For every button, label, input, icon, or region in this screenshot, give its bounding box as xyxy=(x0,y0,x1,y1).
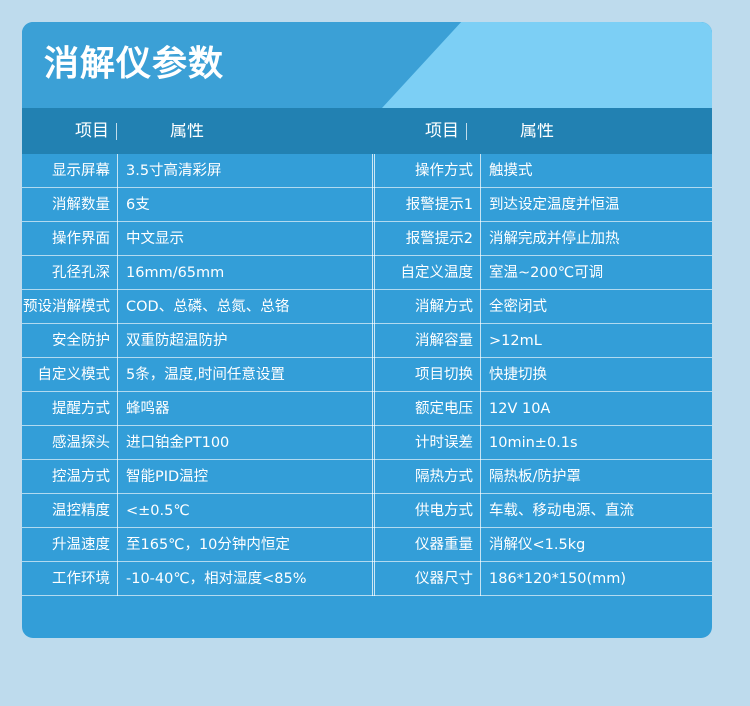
spec-key: 隔热方式 xyxy=(375,460,481,494)
spec-key: 预设消解模式 xyxy=(22,290,118,324)
spec-pair-left: 提醒方式蜂鸣器 xyxy=(22,392,372,426)
spec-key: 供电方式 xyxy=(375,494,481,528)
spec-pair-left: 升温速度至165℃，10分钟内恒定 xyxy=(22,528,372,562)
spec-value: -10-40℃，相对湿度<85% xyxy=(118,562,372,596)
spec-pair-right: 消解方式全密闭式 xyxy=(372,290,712,324)
table-row: 温控精度<±0.5℃供电方式车载、移动电源、直流 xyxy=(22,494,712,528)
spec-value: 室温~200℃可调 xyxy=(481,256,712,290)
spec-key: 额定电压 xyxy=(375,392,481,426)
table-column-headers: 项目 属性 项目 属性 xyxy=(22,108,712,154)
column-header-key-right: 项目 xyxy=(419,123,467,140)
spec-pair-left: 预设消解模式COD、总磷、总氮、总铬 xyxy=(22,290,372,324)
table-row: 预设消解模式COD、总磷、总氮、总铬消解方式全密闭式 xyxy=(22,290,712,324)
spec-value: 16mm/65mm xyxy=(118,256,372,290)
table-row: 显示屏幕3.5寸高清彩屏操作方式触摸式 xyxy=(22,154,712,188)
table-footer-strip xyxy=(22,596,712,626)
spec-key: 显示屏幕 xyxy=(22,154,118,188)
spec-rows: 显示屏幕3.5寸高清彩屏操作方式触摸式消解数量6支报警提示1到达设定温度并恒温操… xyxy=(22,154,712,596)
spec-value: 6支 xyxy=(118,188,372,222)
table-row: 控温方式智能PID温控隔热方式隔热板/防护罩 xyxy=(22,460,712,494)
table-row: 消解数量6支报警提示1到达设定温度并恒温 xyxy=(22,188,712,222)
spec-pair-left: 自定义模式5条，温度,时间任意设置 xyxy=(22,358,372,392)
spec-key: 消解数量 xyxy=(22,188,118,222)
spec-key: 控温方式 xyxy=(22,460,118,494)
spec-key: 报警提示2 xyxy=(375,222,481,256)
spec-value: 车载、移动电源、直流 xyxy=(481,494,712,528)
spec-key: 感温探头 xyxy=(22,426,118,460)
spec-key: 仪器尺寸 xyxy=(375,562,481,596)
spec-value: 到达设定温度并恒温 xyxy=(481,188,712,222)
spec-key: 安全防护 xyxy=(22,324,118,358)
spec-value: 至165℃，10分钟内恒定 xyxy=(118,528,372,562)
spec-key: 操作界面 xyxy=(22,222,118,256)
spec-value: 12V 10A xyxy=(481,392,712,426)
spec-pair-right: 供电方式车载、移动电源、直流 xyxy=(372,494,712,528)
spec-pair-left: 工作环境-10-40℃，相对湿度<85% xyxy=(22,562,372,596)
column-header-value-left: 属性 xyxy=(162,123,204,140)
spec-key: 孔径孔深 xyxy=(22,256,118,290)
table-row: 升温速度至165℃，10分钟内恒定仪器重量消解仪<1.5kg xyxy=(22,528,712,562)
table-row: 安全防护双重防超温防护消解容量>12mL xyxy=(22,324,712,358)
spec-pair-right: 仪器尺寸186*120*150(mm) xyxy=(372,562,712,596)
spec-pair-right: 计时误差10min±0.1s xyxy=(372,426,712,460)
spec-pair-right: 报警提示1到达设定温度并恒温 xyxy=(372,188,712,222)
column-header-key-left: 项目 xyxy=(69,123,117,140)
spec-value: 3.5寸高清彩屏 xyxy=(118,154,372,188)
spec-value: 进口铂金PT100 xyxy=(118,426,372,460)
spec-pair-right: 消解容量>12mL xyxy=(372,324,712,358)
spec-pair-left: 感温探头进口铂金PT100 xyxy=(22,426,372,460)
spec-value: 双重防超温防护 xyxy=(118,324,372,358)
spec-value: 快捷切换 xyxy=(481,358,712,392)
spec-pair-right: 隔热方式隔热板/防护罩 xyxy=(372,460,712,494)
spec-key: 仪器重量 xyxy=(375,528,481,562)
spec-pair-right: 报警提示2消解完成并停止加热 xyxy=(372,222,712,256)
spec-pair-left: 显示屏幕3.5寸高清彩屏 xyxy=(22,154,372,188)
spec-pair-right: 仪器重量消解仪<1.5kg xyxy=(372,528,712,562)
spec-key: 消解方式 xyxy=(375,290,481,324)
spec-value: 10min±0.1s xyxy=(481,426,712,460)
spec-pair-left: 温控精度<±0.5℃ xyxy=(22,494,372,528)
spec-value: 智能PID温控 xyxy=(118,460,372,494)
spec-pair-right: 额定电压12V 10A xyxy=(372,392,712,426)
table-row: 自定义模式5条，温度,时间任意设置项目切换快捷切换 xyxy=(22,358,712,392)
spec-key: 项目切换 xyxy=(375,358,481,392)
spec-value: 消解完成并停止加热 xyxy=(481,222,712,256)
spec-value: 隔热板/防护罩 xyxy=(481,460,712,494)
spec-pair-left: 操作界面中文显示 xyxy=(22,222,372,256)
spec-value: 消解仪<1.5kg xyxy=(481,528,712,562)
spec-key: 自定义模式 xyxy=(22,358,118,392)
spec-value: >12mL xyxy=(481,324,712,358)
spec-key: 自定义温度 xyxy=(375,256,481,290)
spec-pair-left: 安全防护双重防超温防护 xyxy=(22,324,372,358)
spec-pair-left: 孔径孔深16mm/65mm xyxy=(22,256,372,290)
spec-key: 报警提示1 xyxy=(375,188,481,222)
spec-value: 触摸式 xyxy=(481,154,712,188)
spec-pair-right: 自定义温度室温~200℃可调 xyxy=(372,256,712,290)
table-row: 操作界面中文显示报警提示2消解完成并停止加热 xyxy=(22,222,712,256)
spec-key: 温控精度 xyxy=(22,494,118,528)
spec-key: 升温速度 xyxy=(22,528,118,562)
spec-value: <±0.5℃ xyxy=(118,494,372,528)
spec-value: 中文显示 xyxy=(118,222,372,256)
spec-value: 全密闭式 xyxy=(481,290,712,324)
page-title: 消解仪参数 xyxy=(44,48,224,83)
table-row: 提醒方式蜂鸣器额定电压12V 10A xyxy=(22,392,712,426)
spec-value: 186*120*150(mm) xyxy=(481,562,712,596)
column-header-group-left: 项目 属性 xyxy=(22,108,372,154)
spec-pair-right: 项目切换快捷切换 xyxy=(372,358,712,392)
spec-key: 工作环境 xyxy=(22,562,118,596)
table-row: 孔径孔深16mm/65mm自定义温度室温~200℃可调 xyxy=(22,256,712,290)
table-row: 工作环境-10-40℃，相对湿度<85%仪器尺寸186*120*150(mm) xyxy=(22,562,712,596)
spec-value: 5条，温度,时间任意设置 xyxy=(118,358,372,392)
column-header-value-right: 属性 xyxy=(512,123,554,140)
spec-key: 操作方式 xyxy=(375,154,481,188)
table-row: 感温探头进口铂金PT100计时误差10min±0.1s xyxy=(22,426,712,460)
spec-key: 计时误差 xyxy=(375,426,481,460)
spec-pair-right: 操作方式触摸式 xyxy=(372,154,712,188)
banner-diagonal-accent xyxy=(382,22,712,108)
spec-key: 消解容量 xyxy=(375,324,481,358)
spec-value: COD、总磷、总氮、总铬 xyxy=(118,290,372,324)
spec-key: 提醒方式 xyxy=(22,392,118,426)
column-header-group-right: 项目 属性 xyxy=(372,108,712,154)
spec-pair-left: 控温方式智能PID温控 xyxy=(22,460,372,494)
spec-sheet: 消解仪参数 项目 属性 项目 属性 显示屏幕3.5寸高清彩屏操作方式触摸式消解数… xyxy=(22,22,712,638)
spec-value: 蜂鸣器 xyxy=(118,392,372,426)
banner: 消解仪参数 xyxy=(22,22,712,108)
spec-pair-left: 消解数量6支 xyxy=(22,188,372,222)
